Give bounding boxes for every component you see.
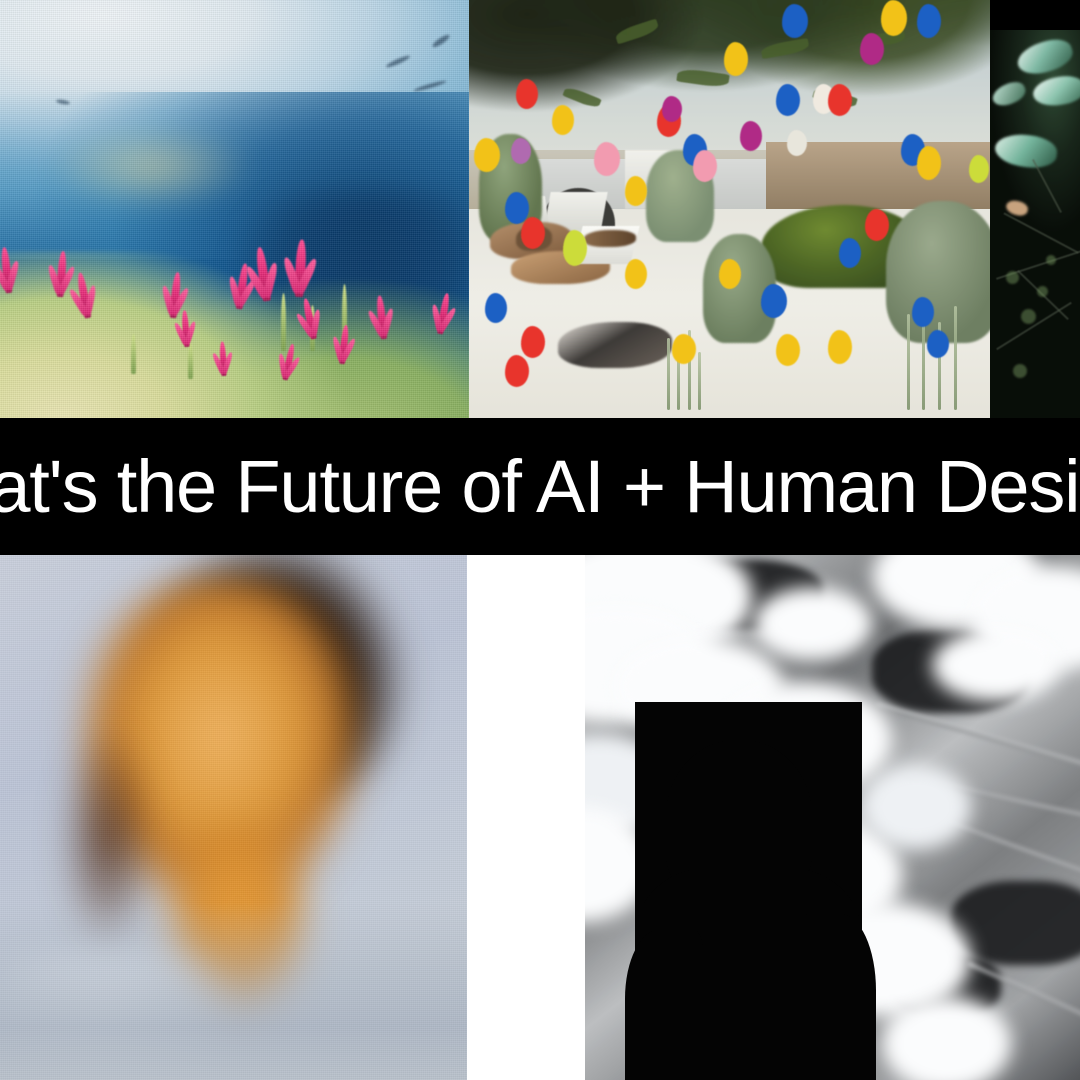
paint-blob-chartreuse (969, 155, 989, 183)
white-gutter (467, 555, 585, 1080)
leaf-dot (1006, 271, 1019, 284)
cloud (882, 996, 1011, 1080)
cloud (862, 765, 971, 849)
paint-blob-magenta (662, 96, 682, 122)
paint-blob-yellow (881, 0, 907, 36)
silhouette-shoulder-right (798, 914, 875, 1080)
garden-bowl (584, 230, 636, 247)
garden-grass (907, 314, 910, 410)
image-underwater-seascape[interactable] (0, 0, 469, 418)
paint-blob-chartreuse (563, 230, 587, 266)
paint-blob-blue (912, 297, 934, 327)
portrait-lower-shade (0, 902, 467, 1080)
page-title: What's the Future of AI + Human Design? (0, 450, 1080, 524)
cloud (753, 587, 872, 661)
paint-blob-red (865, 209, 889, 241)
leaf-dot (1013, 364, 1027, 378)
paint-blob-blue (782, 4, 808, 38)
paint-blob-blue (485, 293, 507, 323)
headline-band: What's the Future of AI + Human Design? (0, 418, 1080, 555)
garden-dog (558, 322, 673, 368)
paint-blob-violet (511, 138, 531, 164)
person-silhouette (635, 702, 863, 1080)
garden-grass (667, 338, 670, 410)
silhouette-shoulder-left (625, 929, 702, 1080)
garden-grass (698, 352, 701, 410)
image-blurred-portrait[interactable] (0, 555, 467, 1080)
paint-blob-yellow (625, 176, 647, 206)
leaf-dot (1046, 255, 1056, 265)
leaf-dot (1021, 309, 1036, 324)
paint-blob-blue (761, 284, 787, 318)
image-clouds-silhouette[interactable] (585, 555, 1080, 1080)
leaf-dot (1037, 286, 1048, 297)
cloud (932, 629, 1061, 703)
moodboard-canvas: What's the Future of AI + Human Design? (0, 0, 1080, 1080)
image-painted-garden[interactable] (469, 0, 990, 418)
image-dark-botanical[interactable] (990, 30, 1080, 418)
sea-weed (188, 343, 193, 379)
paint-blob-white (787, 130, 807, 156)
garden-grass (954, 306, 957, 410)
terrain-dark-patch (951, 881, 1080, 965)
